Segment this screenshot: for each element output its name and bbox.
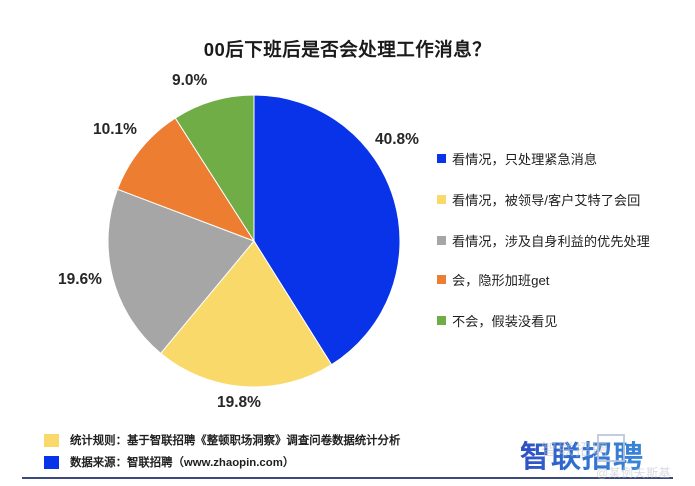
footer-text-1: 数据来源：智联招聘（www.zhaopin.com） — [70, 454, 294, 470]
legend-label-4: 不会，假装没看见 — [452, 312, 558, 331]
legend-item-3[interactable]: 会，隐形加班get — [437, 271, 689, 290]
legend-label-0: 看情况，只处理紧急消息 — [452, 150, 597, 169]
footer-row-statistics-rule: 统计规则：基于智联招聘《整顿职场洞察》调查问卷数据统计分析 — [44, 432, 400, 448]
footer-text-0: 统计规则：基于智联招聘《整顿职场洞察》调查问卷数据统计分析 — [70, 432, 400, 448]
page-title: 00后下班后是否会处理工作消息？ — [0, 36, 695, 62]
pie-value-label-0: 40.8% — [375, 131, 419, 149]
legend-label-3: 会，隐形加班get — [452, 271, 549, 290]
footer-divider — [22, 477, 673, 479]
chart-page: 00后下班后是否会处理工作消息？ 40.8% 19.8% 19.6% 10.1%… — [0, 0, 695, 486]
legend-swatch-icon-1 — [437, 195, 446, 204]
footer-row-data-source: 数据来源：智联招聘（www.zhaopin.com） — [44, 454, 294, 470]
pie-value-label-1: 19.8% — [217, 394, 261, 412]
legend-label-2: 看情况，涉及自身利益的优先处理 — [452, 232, 650, 251]
pie-value-label-3: 10.1% — [93, 121, 137, 139]
footer-swatch-icon-0 — [44, 434, 59, 447]
pie-chart-svg — [107, 94, 401, 388]
legend-swatch-icon-0 — [437, 154, 446, 163]
legend-item-1[interactable]: 看情况，被领导/客户艾特了会回 — [437, 191, 689, 210]
legend-item-4[interactable]: 不会，假装没看见 — [437, 312, 689, 331]
legend-swatch-icon-4 — [437, 316, 446, 325]
brand-mark-icon — [597, 434, 625, 462]
legend-label-1: 看情况，被领导/客户艾特了会回 — [452, 191, 640, 210]
legend-item-0[interactable]: 看情况，只处理紧急消息 — [437, 150, 689, 169]
brand-logo: 智联招聘 — [520, 432, 644, 476]
footer-swatch-icon-1 — [44, 456, 59, 469]
pie-value-label-4: 9.0% — [172, 72, 207, 90]
legend-item-2[interactable]: 看情况，涉及自身利益的优先处理 — [437, 232, 689, 251]
pie-chart — [107, 94, 401, 388]
legend-swatch-icon-3 — [437, 275, 446, 284]
legend-swatch-icon-2 — [437, 236, 446, 245]
chart-legend: 看情况，只处理紧急消息 看情况，被领导/客户艾特了会回 看情况，涉及自身利益的优… — [437, 150, 689, 353]
pie-value-label-2: 19.6% — [58, 271, 102, 289]
pie-slice-group — [108, 95, 400, 387]
